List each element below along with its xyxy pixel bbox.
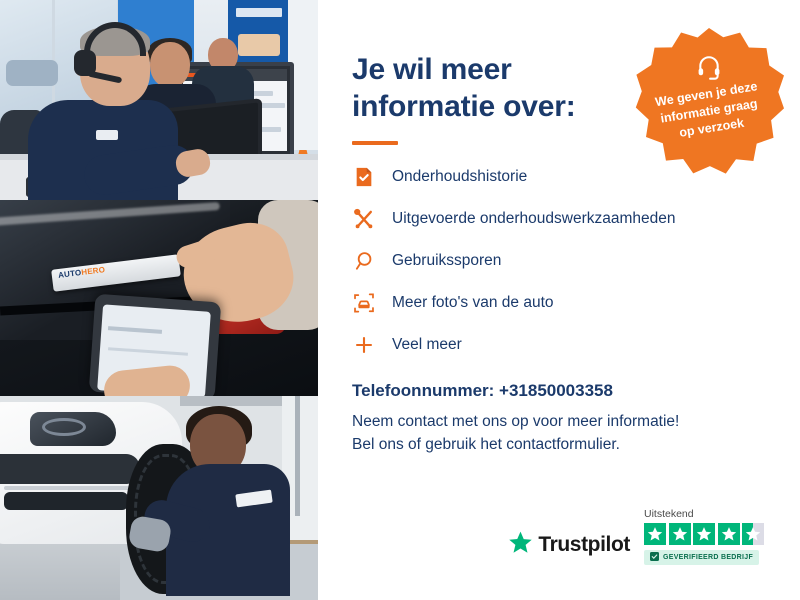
list-item-label: Veel meer — [392, 336, 462, 354]
list-item-label: Gebruikssporen — [392, 252, 501, 270]
trustpilot-widget[interactable]: Trustpilot Uitstekend GEVERIFIEERD BEDRI… — [508, 508, 764, 566]
contact-line-1: Neem contact met ons op voor meer inform… — [352, 410, 760, 433]
trustpilot-logo: Trustpilot — [508, 530, 630, 566]
verified-label: GEVERIFIEERD BEDRIJF — [663, 554, 753, 561]
magnifier-icon — [352, 249, 376, 273]
star-icon — [644, 523, 666, 545]
contact-line-2: Bel ons of gebruik het contactformulier. — [352, 433, 760, 456]
title-underline — [352, 141, 398, 145]
star-icon — [718, 523, 740, 545]
callcenter-photo — [0, 0, 318, 200]
photo-column: AUTOHERO — [0, 0, 318, 600]
list-item-label: Uitgevoerde onderhoudswerkzaamheden — [392, 210, 676, 228]
promo-panel: AUTOHERO Je wil meer informatie over: — [0, 0, 800, 600]
info-on-request-badge: We geven je deze informatie graag op ver… — [634, 28, 784, 178]
star-rating — [644, 523, 764, 545]
contact-block: Telefoonnummer: +31850003358 Neem contac… — [352, 381, 760, 457]
star-icon — [693, 523, 715, 545]
list-item: Uitgevoerde onderhoudswerkzaamheden — [352, 207, 760, 231]
trustpilot-wordmark: Trustpilot — [538, 533, 630, 557]
plus-icon — [352, 333, 376, 357]
list-item: Gebruikssporen — [352, 249, 760, 273]
verified-badge: GEVERIFIEERD BEDRIJF — [644, 550, 759, 565]
list-item-label: Onderhoudshistorie — [392, 168, 527, 186]
star-icon — [669, 523, 691, 545]
tools-icon — [352, 207, 376, 231]
trustpilot-star-icon — [508, 530, 533, 560]
verified-check-icon — [650, 552, 659, 563]
document-check-icon — [352, 165, 376, 189]
page-title: Je wil meer informatie over: — [352, 52, 652, 125]
phone-number[interactable]: Telefoonnummer: +31850003358 — [352, 381, 760, 401]
feature-list: Onderhoudshistorie Uitgevoerde onderhoud… — [352, 165, 760, 357]
car-scan-icon — [352, 291, 376, 315]
workshop-photo — [0, 396, 318, 600]
inspection-photo: AUTOHERO — [0, 200, 318, 396]
list-item: Veel meer — [352, 333, 760, 357]
content-panel: Je wil meer informatie over: We geven je… — [318, 0, 800, 600]
star-icon-half — [742, 523, 764, 545]
list-item: Meer foto's van de auto — [352, 291, 760, 315]
rating-word: Uitstekend — [644, 508, 764, 520]
list-item-label: Meer foto's van de auto — [392, 294, 554, 312]
